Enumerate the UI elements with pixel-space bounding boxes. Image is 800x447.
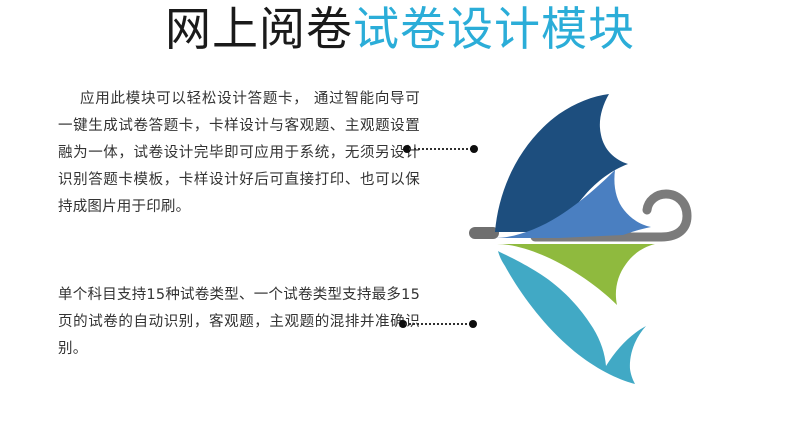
- page-title-accent-part: 试卷设计模块: [353, 2, 635, 56]
- umbrella-icon: [465, 88, 735, 388]
- umbrella-panel-cyan: [498, 251, 646, 384]
- page-title-dark-part: 网上阅卷: [165, 2, 353, 56]
- body-paragraph-2: 单个科目支持15种试卷类型、一个试卷类型支持最多15页的试卷的自动识别，客观题，…: [58, 282, 420, 363]
- connector-dotted-segment: [409, 148, 472, 150]
- presentation-slide: 网上阅卷试卷设计模块 应用此模块可以轻松设计答题卡， 通过智能向导可一键生成试卷…: [0, 0, 800, 447]
- body-paragraph-1: 应用此模块可以轻松设计答题卡， 通过智能向导可一键生成试卷答题卡，卡样设计与客观…: [58, 86, 420, 221]
- connector-dotted-segment: [405, 323, 471, 325]
- umbrella-ferrule: [469, 227, 499, 239]
- page-title: 网上阅卷试卷设计模块: [0, 0, 800, 60]
